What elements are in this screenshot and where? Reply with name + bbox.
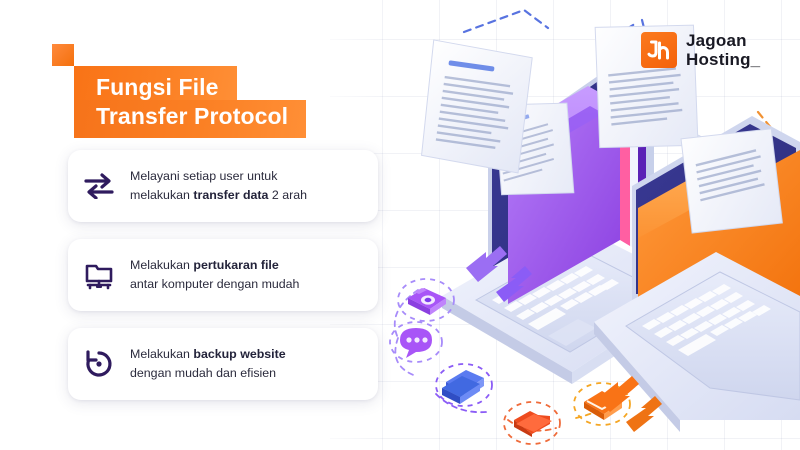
feature-card-text: Melayani setiap user untuk melakukan tra… (130, 167, 319, 205)
restore-backup-icon (68, 349, 130, 379)
title-accent-square (52, 44, 74, 66)
title-bar-line2: Transfer Protocol (74, 100, 306, 138)
logo-name-line1: Jagoan (686, 31, 760, 50)
jagoan-hosting-logo-text: Jagoan Hosting_ (686, 31, 760, 69)
transfer-arrows-icon (68, 173, 130, 199)
title-line-1: Fungsi File (96, 73, 219, 101)
card2-line1-before: Melakukan (130, 347, 193, 361)
title-bar-line1: Fungsi File (74, 66, 237, 103)
feature-card-text: Melakukan pertukaran file antar komputer… (130, 256, 311, 294)
card0-line1: Melayani setiap user untuk (130, 169, 277, 183)
node-chat-bubble (390, 322, 442, 362)
network-computer-icon (68, 260, 130, 290)
jagoan-hosting-logo-mark (641, 32, 677, 68)
feature-card-exchange[interactable]: Melakukan pertukaran file antar komputer… (68, 239, 378, 311)
feature-card-text: Melakukan backup website dengan mudah da… (130, 345, 298, 383)
node-books (436, 364, 492, 406)
logo-name-line2: Hosting_ (686, 50, 760, 69)
card1-line1-bold: pertukaran file (193, 258, 278, 272)
card2-line2: dengan mudah dan efisien (130, 366, 276, 380)
card0-line2-before: melakukan (130, 188, 193, 202)
card1-line1-before: Melakukan (130, 258, 193, 272)
document-main (417, 40, 535, 173)
card0-line2-bold: transfer data (193, 188, 268, 202)
infographic-canvas: Fungsi File Transfer Protocol Melayani s… (0, 0, 800, 450)
feature-card-transfer[interactable]: Melayani setiap user untuk melakukan tra… (68, 150, 378, 222)
feature-card-backup[interactable]: Melakukan backup website dengan mudah da… (68, 328, 378, 400)
title-line-2: Transfer Protocol (96, 102, 288, 130)
card0-line2-after: 2 arah (268, 188, 307, 202)
card2-line1-bold: backup website (193, 347, 285, 361)
jagoan-hosting-logo[interactable]: Jagoan Hosting_ (641, 31, 760, 69)
card1-line2: antar komputer dengan mudah (130, 277, 299, 291)
